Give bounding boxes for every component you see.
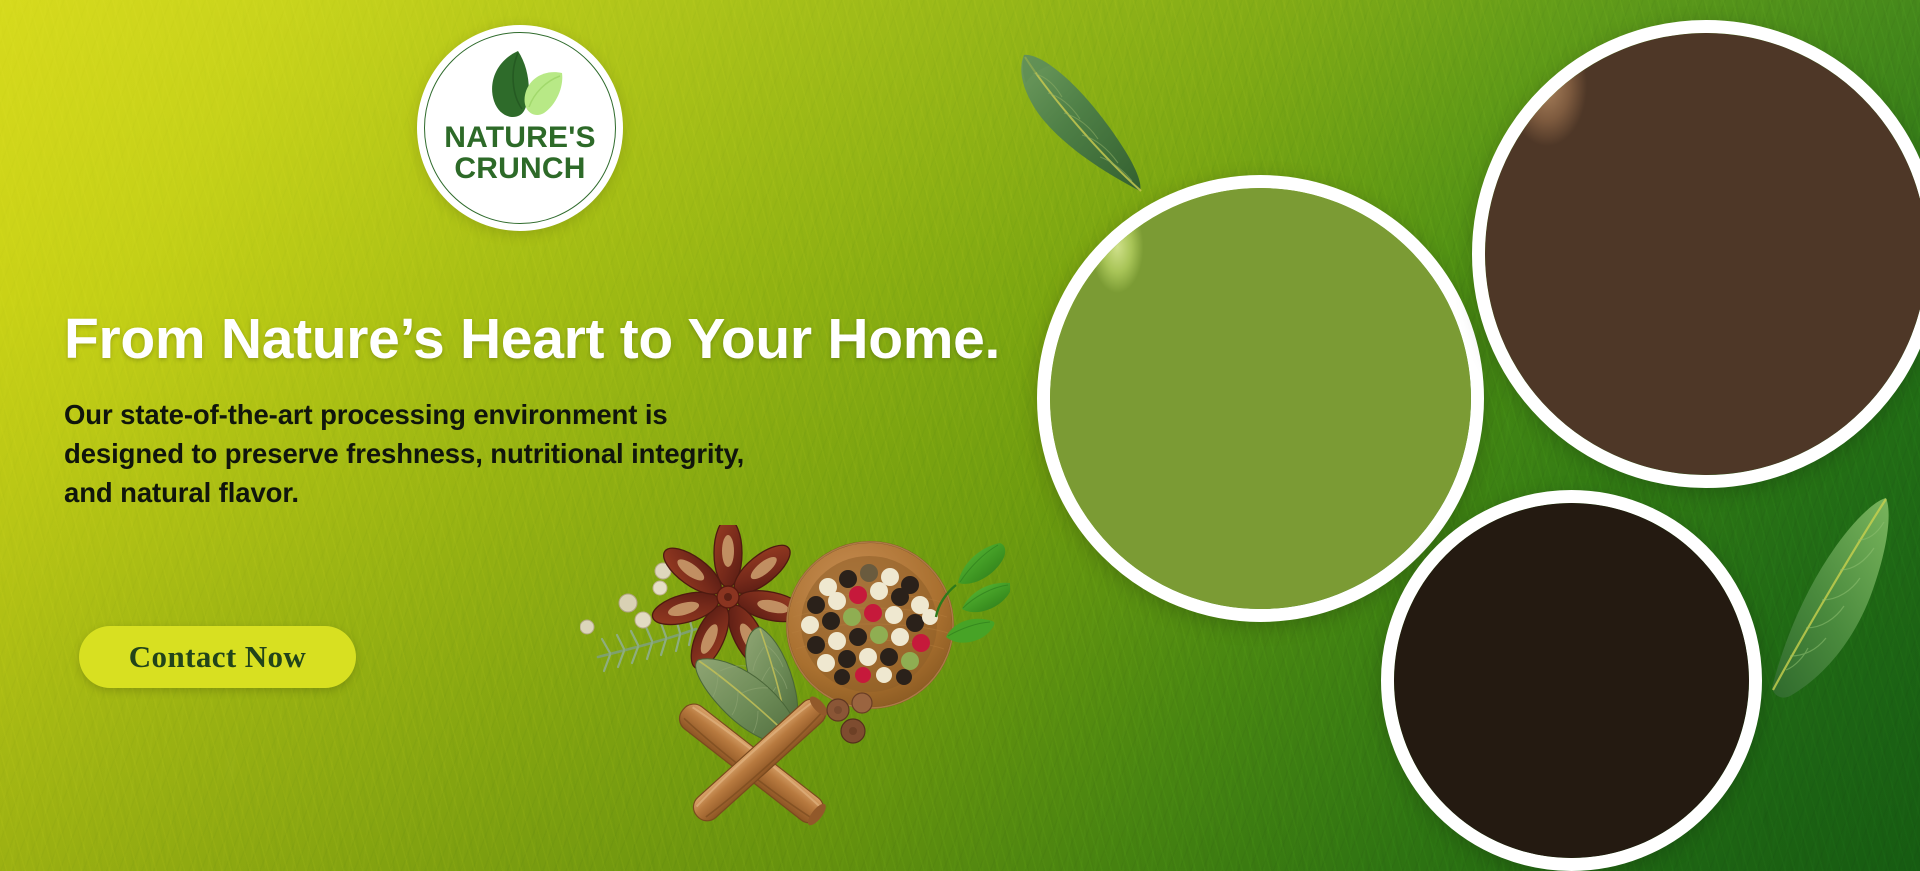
black-peppercorn-circle <box>1381 490 1762 871</box>
spice-bowl-icon <box>787 542 953 708</box>
bay-leaf-top-icon <box>1000 35 1165 200</box>
logo-word-line1: NATURE'S <box>444 121 596 154</box>
logo-wordmark: NATURE'S CRUNCH <box>417 123 623 185</box>
black-cardamom-image <box>1485 33 1920 475</box>
contact-now-button[interactable]: Contact Now <box>79 626 356 688</box>
subcopy-line-1: Our state-of-the-art processing environm… <box>64 395 1024 434</box>
brand-logo[interactable]: NATURE'S CRUNCH <box>417 25 623 231</box>
subcopy-line-3: and natural flavor. <box>64 473 1024 512</box>
star-anise-icon <box>649 525 807 674</box>
leaf-icon <box>474 47 566 125</box>
bay-leaf-right-icon <box>1760 490 1910 705</box>
subcopy: Our state-of-the-art processing environm… <box>64 395 1024 512</box>
black-cardamom-circle <box>1472 20 1920 488</box>
page-title: From Nature’s Heart to Your Home. <box>64 306 1000 372</box>
black-peppercorn-image <box>1394 503 1749 858</box>
green-cardamom-image <box>1050 188 1471 609</box>
subcopy-line-2: designed to preserve freshness, nutritio… <box>64 434 1024 473</box>
peppercorn-scatter-icon <box>580 563 671 634</box>
logo-word-line2: CRUNCH <box>417 154 623 185</box>
promo-banner: NATURE'S CRUNCH From Nature’s Heart to Y… <box>0 0 1920 871</box>
spice-arrangement-icon <box>580 525 1010 871</box>
green-cardamom-circle <box>1037 175 1484 622</box>
